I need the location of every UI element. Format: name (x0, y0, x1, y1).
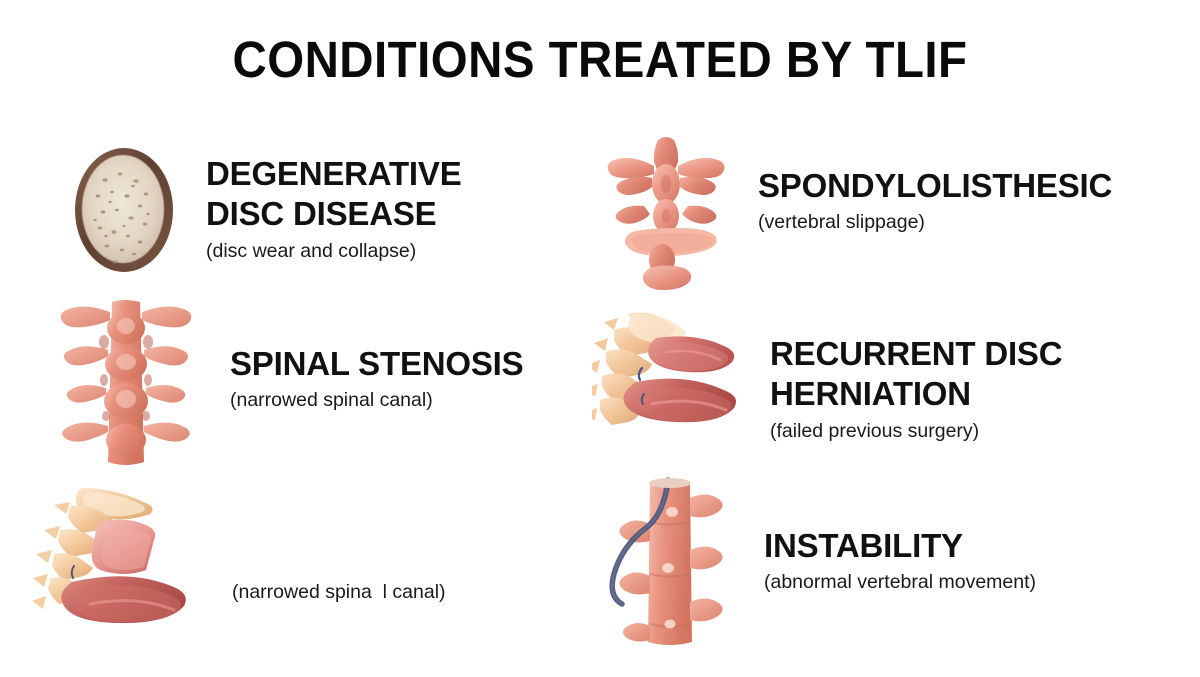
condition-subtitle: (narrowed spinal canal) (230, 388, 572, 413)
condition-subtitle: (failed previous surgery) (770, 419, 1182, 444)
condition-subtitle: (narrowed spina l canal) (232, 580, 570, 605)
sagittal-spine-cutaway-icon (30, 478, 210, 638)
condition-title: INSTABILITY (764, 526, 1186, 566)
conditions-grid: DEGENERATIVE DISC DISEASE (disc wear and… (0, 118, 1200, 677)
condition-text-block: SPINAL STENOSIS (narrowed spinal canal) (200, 298, 572, 414)
condition-text-block: DEGENERATIVE DISC DISEASE (disc wear and… (188, 136, 580, 264)
condition-text-block: SPONDYLOLISTHESIC (vertebral slippage) (736, 128, 1176, 236)
condition-subtitle: (vertebral slippage) (758, 210, 1176, 235)
posterior-vertebrae-icon (52, 298, 200, 468)
condition-item-narrowed-canal[interactable]: (narrowed spina l canal) (30, 478, 570, 638)
condition-item-instability[interactable]: INSTABILITY (abnormal vertebral movement… (606, 476, 1186, 646)
disc-cross-section-icon (60, 136, 188, 286)
slide-root: CONDITIONS TREATED BY TLIF (0, 0, 1200, 677)
condition-title: SPONDYLOLISTHESIC (758, 166, 1176, 206)
page-title: CONDITIONS TREATED BY TLIF (42, 30, 1158, 89)
condition-item-degenerative-disc-disease[interactable]: DEGENERATIVE DISC DISEASE (disc wear and… (60, 136, 580, 286)
condition-title: SPINAL STENOSIS (230, 344, 572, 384)
condition-subtitle: (disc wear and collapse) (206, 239, 580, 264)
condition-item-spondylolisthesis[interactable]: SPONDYLOLISTHESIC (vertebral slippage) (596, 128, 1176, 293)
slipped-vertebrae-icon (596, 128, 736, 293)
condition-title: DEGENERATIVE DISC DISEASE (206, 154, 580, 235)
condition-item-spinal-stenosis[interactable]: SPINAL STENOSIS (narrowed spinal canal) (52, 298, 572, 468)
condition-text-block: RECURRENT DISC HERNIATION (failed previo… (742, 308, 1182, 444)
condition-subtitle: (abnormal vertebral movement) (764, 570, 1186, 595)
condition-title: RECURRENT DISC HERNIATION (770, 334, 1182, 415)
sagittal-spine-cutaway-icon (592, 308, 742, 453)
condition-item-recurrent-disc-herniation[interactable]: RECURRENT DISC HERNIATION (failed previo… (592, 308, 1182, 453)
condition-text-block: (narrowed spina l canal) (210, 478, 570, 605)
condition-text-block: INSTABILITY (abnormal vertebral movement… (736, 476, 1186, 596)
lateral-spine-nerve-icon (606, 476, 736, 646)
